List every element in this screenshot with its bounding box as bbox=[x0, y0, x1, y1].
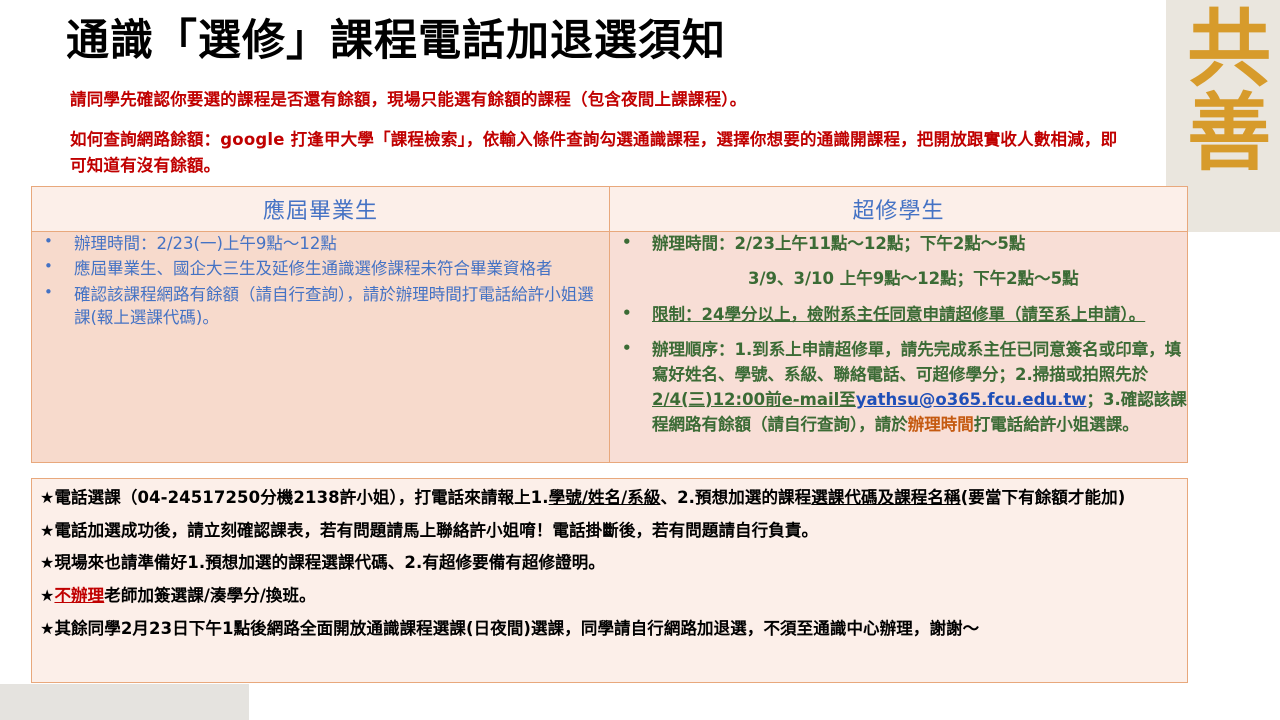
page-title: 通識「選修」課程電話加退選須知 bbox=[66, 18, 726, 65]
note-0-part-0: 電話選課（04-24517250分機2138許小姐），打電話來請報上1. bbox=[54, 488, 548, 507]
note-line-walk-in-prepare: ★現場來也請準備好1.預想加選的課程選課代碼、2.有超修要備有超修證明。 bbox=[40, 550, 1179, 577]
notice-line-availability: 請同學先確認你要選的課程是否還有餘額，現場只能選有餘額的課程（包含夜間上課課程）… bbox=[70, 87, 1160, 113]
star-bullet-icon: ★ bbox=[40, 521, 54, 540]
column-header-overload-label: 超修學生 bbox=[852, 199, 944, 224]
star-bullet-icon: ★ bbox=[40, 488, 54, 507]
note-2-part-0: 現場來也請準備好1.預想加選的課程選課代碼、2.有超修要備有超修證明。 bbox=[54, 553, 605, 572]
bottom-left-grey-band bbox=[0, 684, 249, 720]
list-item: 辦理時間：2/23上午11點～12點；下午2點～5點 3/9、3/10 上午9點… bbox=[610, 232, 1187, 292]
eligibility-table: 應屆畢業生 超修學生 辦理時間：2/23(一)上午9點～12點 應屆畢業生、國企… bbox=[31, 186, 1188, 463]
note-line-online-open: ★其餘同學2月23日下午1點後網路全面開放通識課程選課(日夜間)選課，同學請自行… bbox=[40, 616, 1179, 643]
table-body-row: 辦理時間：2/23(一)上午9點～12點 應屆畢業生、國企大三生及延修生通識選修… bbox=[32, 232, 1188, 463]
cell-overload-students: 辦理時間：2/23上午11點～12點；下午2點～5點 3/9、3/10 上午9點… bbox=[610, 232, 1188, 463]
right-item-1-label: 辦理時間： bbox=[652, 234, 735, 253]
notice-line-how-to-check: 如何查詢網路餘額：google 打逢甲大學「課程檢索」，依輸入條件查詢勾選通識課… bbox=[70, 127, 1130, 178]
note-0-part-1: 學號/姓名/系級 bbox=[549, 488, 661, 507]
column-header-graduating: 應屆畢業生 bbox=[32, 187, 610, 232]
contact-email-link[interactable]: yathsu@o365.fcu.edu.tw bbox=[856, 390, 1087, 409]
star-bullet-icon: ★ bbox=[40, 586, 54, 605]
list-item: 辦理時間：2/23(一)上午9點～12點 bbox=[32, 232, 609, 255]
calligraphy-glyphs: 共善 bbox=[1184, 4, 1261, 172]
left-item-1-text: 辦理時間：2/23(一)上午9點～12點 bbox=[74, 234, 337, 253]
list-item: 應屆畢業生、國企大三生及延修生通識選修課程未符合畢業資格者 bbox=[32, 257, 609, 280]
right-item-3-part-a: 辦理順序：1.到系上申請超修單，請先完成系主任已同意簽名或印章，填寫好姓名、學號… bbox=[652, 340, 1181, 384]
note-3-part-0: 不辦理 bbox=[54, 586, 104, 605]
graduating-bullet-list: 辦理時間：2/23(一)上午9點～12點 應屆畢業生、國企大三生及延修生通識選修… bbox=[32, 232, 609, 330]
note-line-no-signature-service: ★不辦理老師加簽選課/湊學分/換班。 bbox=[40, 583, 1179, 610]
column-header-graduating-label: 應屆畢業生 bbox=[263, 199, 378, 224]
cell-graduating-students: 辦理時間：2/23(一)上午9點～12點 應屆畢業生、國企大三生及延修生通識選修… bbox=[32, 232, 610, 463]
footer-notes-box: ★電話選課（04-24517250分機2138許小姐），打電話來請報上1.學號/… bbox=[31, 478, 1188, 683]
overload-bullet-list: 辦理時間：2/23上午11點～12點；下午2點～5點 3/9、3/10 上午9點… bbox=[610, 232, 1187, 437]
note-3-part-1: 老師加簽選課/湊學分/換班。 bbox=[104, 586, 315, 605]
left-item-3-text: 確認該課程網路有餘額（請自行查詢），請於辦理時間打電話給許小姐選課(報上選課代碼… bbox=[74, 285, 594, 327]
list-item: 確認該課程網路有餘額（請自行查詢），請於辦理時間打電話給許小姐選課(報上選課代碼… bbox=[32, 283, 609, 330]
column-header-overload: 超修學生 bbox=[610, 187, 1188, 232]
note-0-part-2: 、2.預想加選的課程 bbox=[661, 488, 812, 507]
note-4-part-0: 其餘同學2月23日下午1點後網路全面開放通識課程選課(日夜間)選課，同學請自行網… bbox=[54, 619, 979, 638]
table-header-row: 應屆畢業生 超修學生 bbox=[32, 187, 1188, 232]
right-item-3-part-c: 打電話給許小姐選課。 bbox=[974, 415, 1139, 434]
note-0-part-4: (要當下有餘額才能加) bbox=[961, 488, 1126, 507]
note-line-phone-enrollment: ★電話選課（04-24517250分機2138許小姐），打電話來請報上1.學號/… bbox=[40, 485, 1179, 512]
note-1-part-0: 電話加選成功後，請立刻確認課表，若有問題請馬上聯絡許小姐唷！電話掛斷後，若有問題… bbox=[54, 521, 818, 540]
right-item-3-highlight: 辦理時間 bbox=[908, 415, 974, 434]
right-item-2-text: 限制：24學分以上，檢附系主任同意申請超修單（請至系上申請）。 bbox=[652, 305, 1145, 324]
left-item-2-text: 應屆畢業生、國企大三生及延修生通識選修課程未符合畢業資格者 bbox=[74, 259, 553, 278]
note-0-part-3: 選課代碼及課程名稱 bbox=[811, 488, 960, 507]
star-bullet-icon: ★ bbox=[40, 619, 54, 638]
right-item-1-value: 2/23上午11點～12點；下午2點～5點 bbox=[735, 234, 1026, 253]
list-item: 辦理順序：1.到系上申請超修單，請先完成系主任已同意簽名或印章，填寫好姓名、學號… bbox=[610, 338, 1187, 437]
right-item-3-date: 2/4(三)12:00前e-mail至 bbox=[652, 390, 856, 409]
star-bullet-icon: ★ bbox=[40, 553, 54, 572]
right-item-1-sub: 3/9、3/10 上午9點～12點；下午2點～5點 bbox=[652, 267, 1187, 292]
note-line-confirm-schedule: ★電話加選成功後，請立刻確認課表，若有問題請馬上聯絡許小姐唷！電話掛斷後，若有問… bbox=[40, 518, 1179, 545]
list-item: 限制：24學分以上，檢附系主任同意申請超修單（請至系上申請）。 bbox=[610, 303, 1187, 328]
